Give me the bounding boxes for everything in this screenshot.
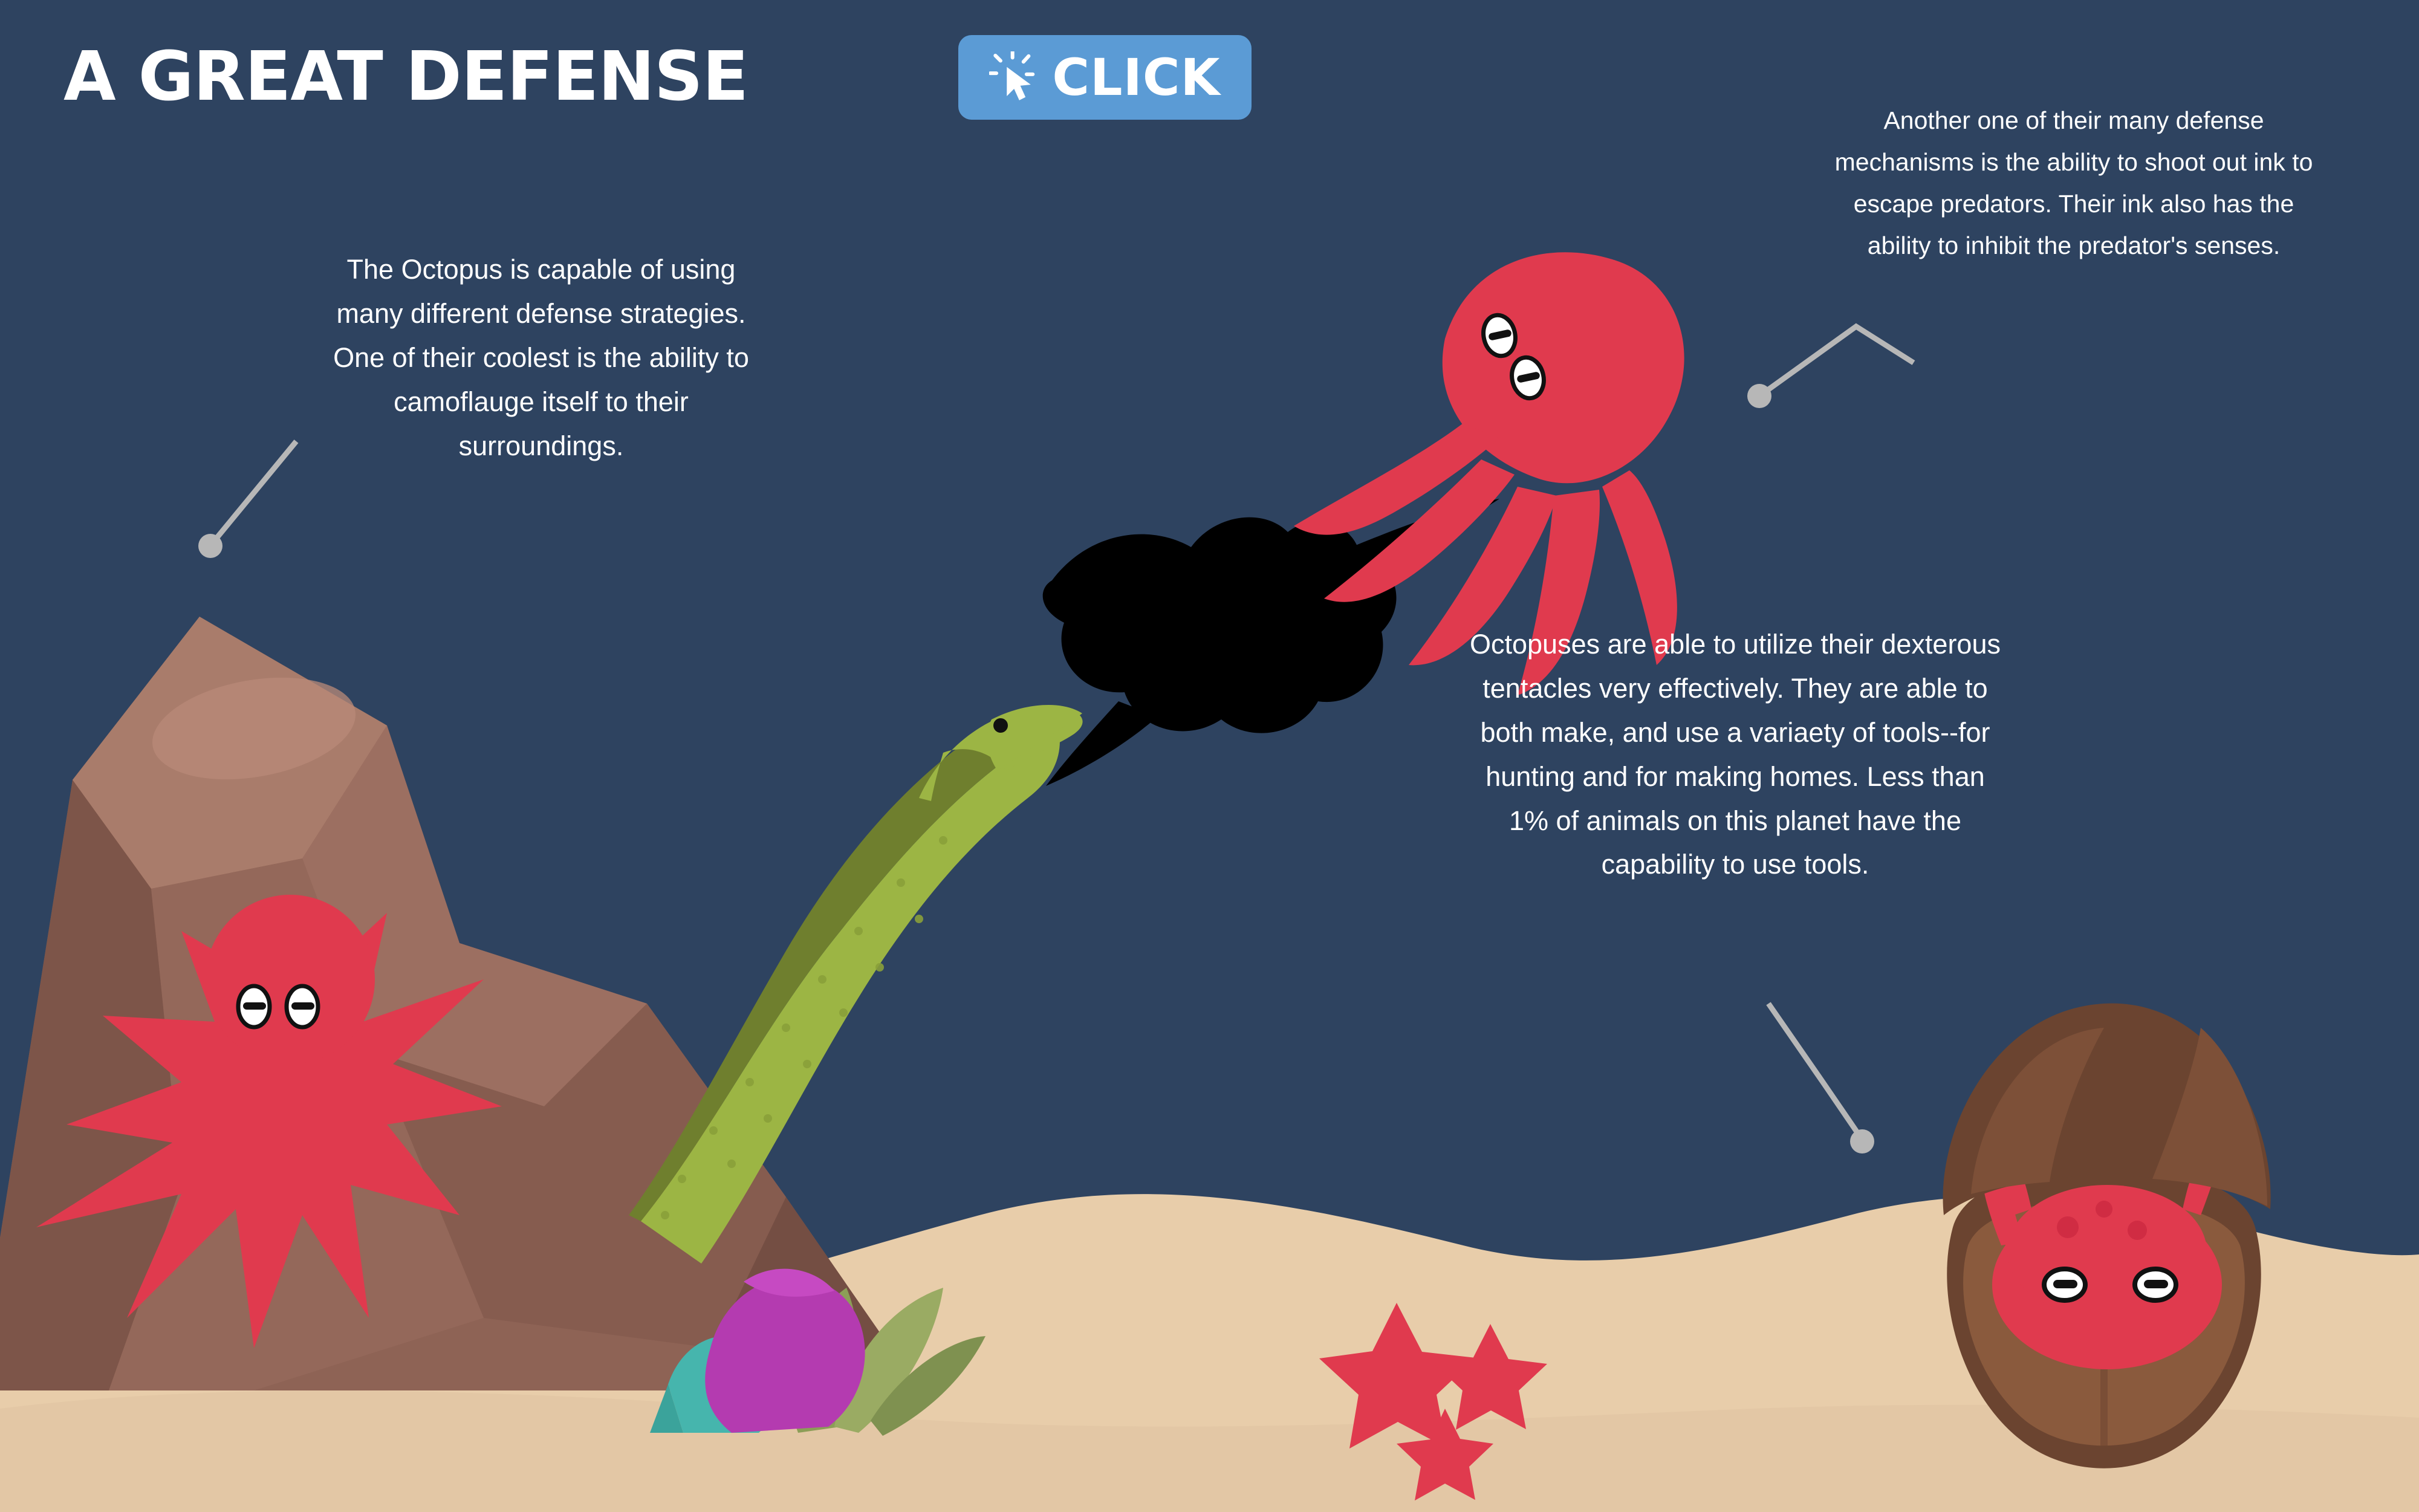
octopus-in-coconut [1943,1004,2271,1468]
annotation-ink-text: Another one of their many defense mechan… [1832,100,2316,267]
cursor-click-icon [989,51,1041,103]
click-button[interactable]: CLICK [958,35,1252,120]
page-title: A GREAT DEFENSE [63,37,748,116]
infographic-canvas: A GREAT DEFENSE CLICK The Octopus is cap… [0,0,2419,1512]
annotation-tools-text: Octopuses are able to utilize their dext… [1463,623,2007,887]
click-button-label: CLICK [1052,48,1220,107]
annotation-camouflage-text: The Octopus is capable of using many dif… [317,248,765,468]
